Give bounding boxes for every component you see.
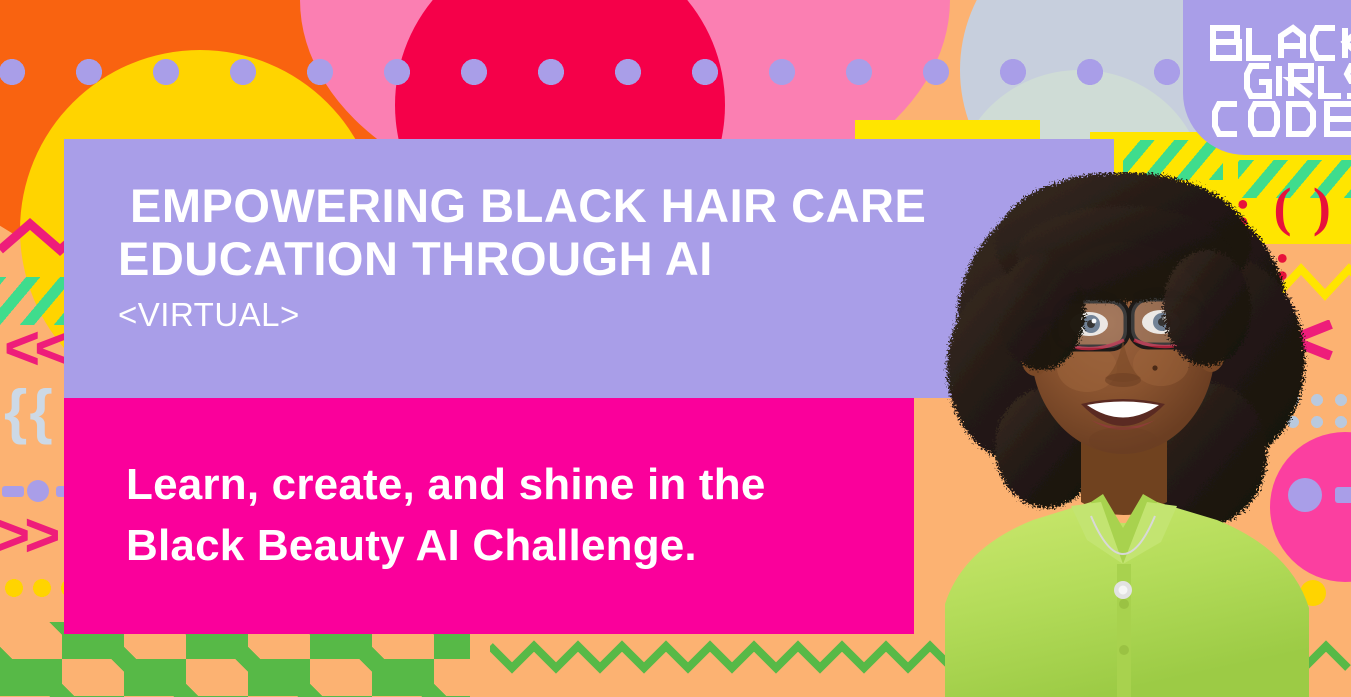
title-line-2: EDUCATION THROUGH AI [118,233,1018,286]
event-promo-banner: << {{ >> ( ) : ( ) : ( ) : [0,0,1351,697]
greater-than-glyph-icon: >> [0,505,54,567]
format-label: <VIRTUAL> [118,296,300,334]
tagline-line-2: Black Beauty AI Challenge. [126,516,916,577]
tagline-line-1: Learn, create, and shine in the [126,455,916,516]
tagline: Learn, create, and shine in the Black Be… [126,455,916,576]
page-title: EMPOWERING BLACK HAIR CARE EDUCATION THR… [118,180,1018,285]
less-than-glyph-icon: << [4,318,64,380]
title-line-1: EMPOWERING BLACK HAIR CARE [118,180,1018,233]
black-girls-code-logo [1207,22,1351,140]
purple-dot-row-decor [0,58,1351,86]
dash-dot-decor [2,480,64,502]
curly-brace-glyph-icon: {{ [4,382,55,442]
